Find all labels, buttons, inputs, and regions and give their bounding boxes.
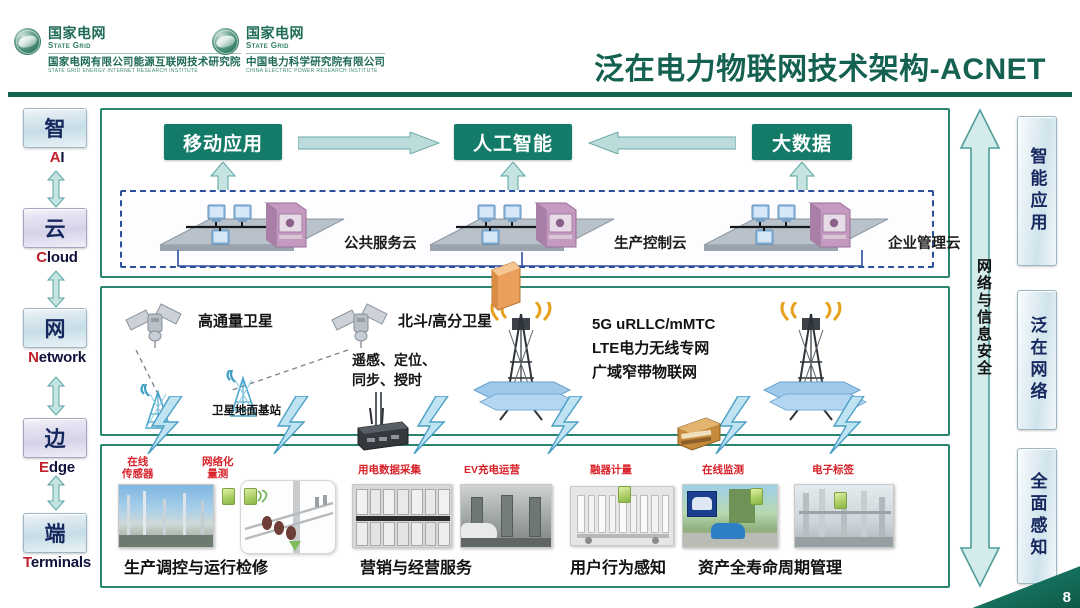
right-rail: 网络与信息安全 智能应用 泛在网络 全面感知 [955, 108, 1075, 588]
rail-item-terminals[interactable]: 端 Terminals [18, 513, 96, 571]
cloud-group-container: 公共服务云 [120, 190, 934, 268]
double-arrow-vertical-icon [47, 475, 65, 511]
satellite-icon [124, 302, 186, 354]
gateway-device-icon [486, 260, 526, 314]
rail-connector-edge-terminals [47, 475, 65, 516]
photo-meter-rack [352, 484, 452, 548]
photo-ev-charging [460, 484, 552, 548]
rail-box-cn: 端 [23, 513, 87, 553]
rail-connector-ai-cloud [47, 170, 65, 213]
double-arrow-vertical-icon [47, 270, 65, 308]
rail-initial: T [23, 554, 31, 571]
caption-marketing-service: 营销与经营服务 [360, 554, 472, 578]
rail-item-ai[interactable]: 智 AI [18, 108, 96, 166]
arrow-left-icon [588, 132, 736, 154]
rail-initial: E [39, 459, 49, 476]
photo-ev-sign [682, 484, 778, 548]
rail-label-en: Edge [18, 459, 96, 476]
net-label-lte-private: LTE电力无线专网 [592, 338, 709, 359]
rail-box-cn: 网 [23, 308, 87, 348]
rail-item-network[interactable]: 网 Network [18, 308, 96, 366]
rail-item-edge[interactable]: 边 Edge [18, 418, 96, 476]
state-grid-logo-icon [14, 28, 41, 55]
caption-production-control: 生产调控与运行检修 [124, 554, 268, 578]
edge-computing-gateway-icon [352, 408, 412, 452]
metering-module-icon [672, 412, 724, 454]
rail-connector-cloud-network [47, 270, 65, 313]
rail-initial: A [50, 149, 61, 166]
rail-connector-network-edge [47, 376, 65, 421]
logo-state-grid-eiri: 国家电网 State Grid 国家电网有限公司能源互联网技术研究院 STATE… [14, 26, 241, 74]
slide-header: 国家电网 State Grid 国家电网有限公司能源互联网技术研究院 STATE… [0, 0, 1080, 96]
architecture-canvas: 移动应用 人工智能 大数据 [100, 108, 950, 588]
tag-metering: 融器计量 [590, 464, 632, 476]
rail-label-en: Network [18, 349, 96, 366]
layer-stack-rail: 智 AI 云 Cloud 网 Network 边 Edge 端 Terminal… [18, 108, 96, 588]
sensor-chip-icon [244, 488, 257, 505]
net-label-5g: 5G uRLLC/mMTC [592, 314, 715, 335]
rail-label-en: Terminals [18, 554, 96, 571]
rail-initial: N [28, 349, 39, 366]
logo-brand-en: State Grid [246, 42, 385, 50]
logo-institute-cn: 中国电力科学研究院有限公司 [246, 57, 385, 68]
wireless-signal-icon [256, 490, 272, 504]
side-box-ubiquitous-network[interactable]: 泛在网络 [1017, 290, 1057, 430]
logo-state-grid-cepri: 国家电网 State Grid 中国电力科学研究院有限公司 CHINA ELEC… [212, 26, 385, 74]
sensor-chip-icon [834, 492, 847, 509]
arrow-right-icon [298, 132, 440, 154]
power-link-bolts [100, 396, 950, 454]
arrow-mobile-to-ai [298, 132, 440, 154]
edge-gateway-box[interactable] [486, 260, 526, 314]
layer-comprehensive-perception: 在线 传感器 网络化 量测 用电数据采集 EV充电运营 融器计量 在线监测 电子… [100, 444, 950, 588]
rail-label-en: AI [18, 149, 96, 166]
sensor-chip-icon [222, 488, 235, 505]
arrow-bigdata-to-ai [588, 132, 736, 154]
page-title: 泛在电力物联网技术架构-ACNET [594, 44, 1046, 88]
net-label-nb-iot: 广域窄带物联网 [592, 362, 697, 383]
satellite-icon [330, 302, 392, 354]
logo-divider [246, 53, 385, 54]
rail-item-cloud[interactable]: 云 Cloud [18, 208, 96, 266]
tag-electronic-label: 电子标签 [812, 464, 854, 476]
net-label-remote-sensing-2: 同步、授时 [352, 370, 422, 390]
logo-institute-en: CHINA ELECTRIC POWER RESEARCH INSTITUTE [246, 69, 385, 74]
side-box-intelligent-application[interactable]: 智能应用 [1017, 116, 1057, 266]
rail-box-cn: 智 [23, 108, 87, 148]
tag-power-data-collection: 用电数据采集 [358, 464, 421, 476]
sensor-chip-icon [618, 486, 631, 503]
header-divider [8, 92, 1072, 97]
cloud-bus-lines [122, 192, 936, 270]
rail-box-cn: 边 [23, 418, 87, 458]
app-box-ai[interactable]: 人工智能 [454, 124, 572, 160]
rail-initial: C [36, 249, 47, 266]
tag-networked-measurement: 网络化 量测 [202, 456, 234, 480]
state-grid-logo-icon [212, 28, 239, 55]
sensor-chip-icon [750, 488, 763, 505]
photo-substation [118, 484, 214, 548]
app-box-mobile[interactable]: 移动应用 [164, 124, 282, 160]
logo-brand-cn: 国家电网 [246, 26, 385, 40]
caption-asset-lifecycle: 资产全寿命周期管理 [698, 554, 842, 578]
rail-box-cn: 云 [23, 208, 87, 248]
network-security-label: 网络与信息安全 [967, 258, 993, 377]
tag-online-monitoring: 在线监测 [702, 464, 744, 476]
app-box-bigdata[interactable]: 大数据 [752, 124, 852, 160]
tag-online-sensor: 在线 传感器 [122, 456, 154, 480]
double-arrow-vertical-icon [47, 170, 65, 208]
rail-label-en: Cloud [18, 249, 96, 266]
double-arrow-vertical-icon [47, 376, 65, 416]
net-label-remote-sensing-1: 遥感、定位、 [352, 350, 436, 370]
tag-ev-charging: EV充电运营 [464, 464, 520, 476]
caption-user-behavior: 用户行为感知 [570, 554, 666, 578]
net-label-high-throughput-satellite: 高通量卫星 [198, 310, 273, 331]
side-box-comprehensive-perception[interactable]: 全面感知 [1017, 448, 1057, 584]
page-number: 8 [1063, 589, 1071, 606]
layer-intelligent-application: 移动应用 人工智能 大数据 [100, 108, 950, 278]
